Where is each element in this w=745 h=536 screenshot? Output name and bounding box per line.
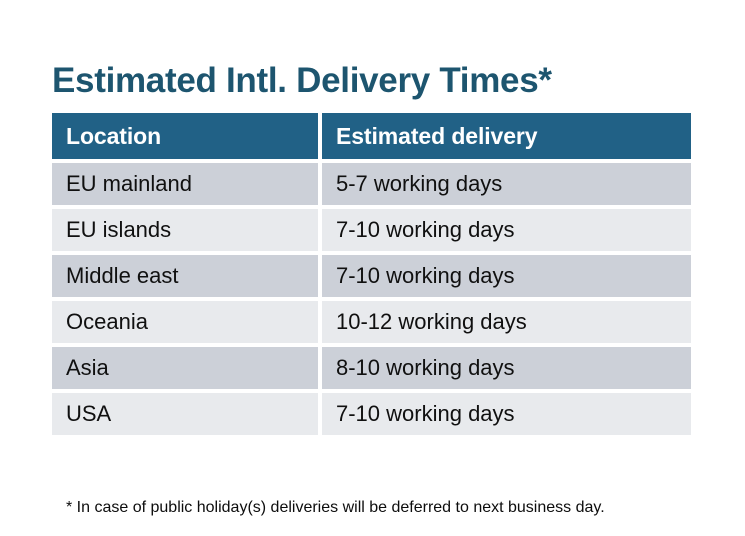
cell-estimated-delivery: 5-7 working days (322, 163, 691, 205)
table-body: EU mainland 5-7 working days EU islands … (52, 163, 691, 435)
table-row: EU islands 7-10 working days (52, 209, 691, 251)
column-header-estimated-delivery: Estimated delivery (322, 113, 691, 159)
cell-location: Asia (52, 347, 318, 389)
column-header-location: Location (52, 113, 318, 159)
table-row: EU mainland 5-7 working days (52, 163, 691, 205)
page-title: Estimated Intl. Delivery Times* (52, 59, 552, 103)
table-row: Middle east 7-10 working days (52, 255, 691, 297)
cell-location: EU mainland (52, 163, 318, 205)
delivery-times-page: Estimated Intl. Delivery Times* Location… (0, 0, 745, 536)
table-header: Location Estimated delivery (52, 113, 691, 159)
cell-estimated-delivery: 7-10 working days (322, 393, 691, 435)
cell-location: Middle east (52, 255, 318, 297)
cell-location: EU islands (52, 209, 318, 251)
table-row: USA 7-10 working days (52, 393, 691, 435)
cell-location: USA (52, 393, 318, 435)
cell-estimated-delivery: 8-10 working days (322, 347, 691, 389)
cell-location: Oceania (52, 301, 318, 343)
delivery-times-table: Location Estimated delivery EU mainland … (48, 109, 695, 439)
table-row: Oceania 10-12 working days (52, 301, 691, 343)
cell-estimated-delivery: 10-12 working days (322, 301, 691, 343)
footnote: * In case of public holiday(s) deliverie… (66, 497, 605, 519)
cell-estimated-delivery: 7-10 working days (322, 209, 691, 251)
table-header-row: Location Estimated delivery (52, 113, 691, 159)
cell-estimated-delivery: 7-10 working days (322, 255, 691, 297)
table-row: Asia 8-10 working days (52, 347, 691, 389)
